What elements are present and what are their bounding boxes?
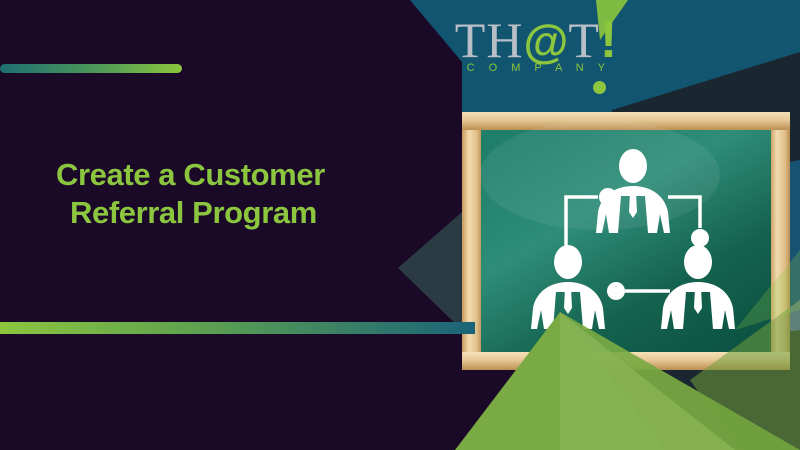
connector-dot-bottom: [607, 282, 625, 300]
logo-mark: TH@T!: [452, 10, 620, 68]
brand-logo[interactable]: TH@T! C O M P A N Y: [452, 10, 620, 96]
logo-exclamation: !: [600, 11, 617, 69]
banner-canvas: Create a Customer Referral Program TH@T!…: [0, 0, 800, 450]
logo-text-t: T: [568, 12, 600, 68]
bottom-accent-bar: [0, 322, 475, 334]
logo-dot-icon: [593, 81, 606, 94]
connector-dot-right: [691, 229, 709, 247]
chalkboard: [462, 112, 790, 370]
top-accent-bar: [0, 64, 182, 73]
logo-at-icon: @: [523, 15, 568, 67]
headline-line-2: Referral Program: [70, 194, 416, 232]
logo-text-th: TH: [455, 12, 524, 68]
headline: Create a Customer Referral Program: [56, 156, 416, 232]
headline-line-1: Create a Customer: [56, 156, 416, 194]
